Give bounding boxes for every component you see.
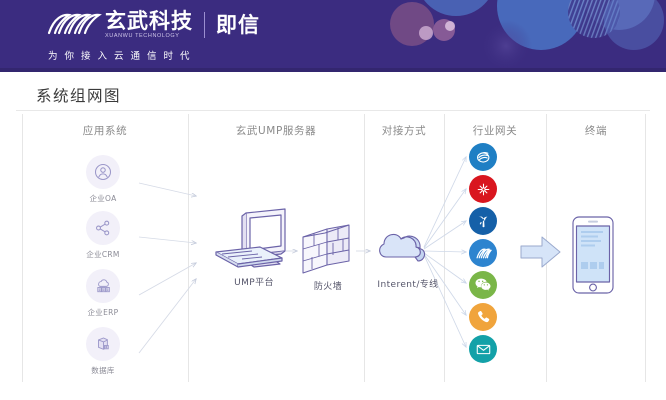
phone-handset-icon	[475, 309, 491, 325]
app-label-database: 数据库	[66, 365, 140, 376]
desktop-computer-icon	[208, 207, 300, 273]
banner-decoration	[366, 0, 666, 72]
app-node-database[interactable]: 数据库	[66, 327, 140, 376]
gateway-china-telecom[interactable]	[469, 207, 497, 235]
cloud-building-icon	[86, 269, 120, 303]
label-internet: Interent/专线	[372, 277, 444, 290]
gateway-voice[interactable]	[469, 303, 497, 331]
xuanwu-swoosh-icon	[46, 12, 100, 38]
banner-bottom-edge	[0, 68, 666, 72]
wechat-icon	[474, 277, 492, 293]
database-icon	[86, 327, 120, 361]
person-icon	[86, 155, 120, 189]
gateway-china-unicom[interactable]	[469, 175, 497, 203]
app-node-oa[interactable]: 企业OA	[66, 155, 140, 204]
app-node-erp[interactable]: 企业ERP	[66, 269, 140, 318]
screenshot-root: 玄武科技 XUANWU TECHNOLOGY 即信 为你接入云通信时代 系统组网…	[0, 0, 666, 400]
brand-tagline: 为你接入云通信时代	[48, 48, 197, 62]
page-title: 系统组网图	[36, 84, 121, 106]
app-to-ump-arrows	[139, 183, 196, 353]
terminal-smartphone[interactable]	[570, 215, 616, 295]
arrow-gateway-to-terminal	[520, 235, 562, 269]
logo-divider	[204, 12, 205, 38]
app-label-erp: 企业ERP	[66, 307, 140, 318]
envelope-icon	[475, 341, 492, 358]
smartphone-icon	[570, 215, 616, 295]
brand-name-en: XUANWU TECHNOLOGY	[105, 33, 193, 39]
gateway-wechat[interactable]	[469, 271, 497, 299]
header-banner: 玄武科技 XUANWU TECHNOLOGY 即信 为你接入云通信时代	[0, 0, 666, 72]
china-unicom-icon	[475, 181, 492, 198]
china-telecom-icon	[475, 213, 492, 230]
node-internet[interactable]: Interent/专线	[372, 223, 444, 290]
gateway-xuanwu[interactable]	[469, 239, 497, 267]
china-mobile-icon	[475, 149, 492, 166]
label-ump-platform: UMP平台	[208, 275, 300, 288]
label-firewall: 防火墙	[299, 279, 357, 292]
brick-wall-icon	[299, 221, 357, 277]
gateway-sms-mail[interactable]	[469, 335, 497, 363]
xuanwu-wave-icon	[475, 246, 492, 261]
app-label-crm: 企业CRM	[66, 249, 140, 260]
app-node-crm[interactable]: 企业CRM	[66, 211, 140, 260]
brand-logo[interactable]: 玄武科技 XUANWU TECHNOLOGY 即信 为你接入云通信时代	[46, 8, 260, 62]
share-nodes-icon	[86, 211, 120, 245]
node-ump-platform[interactable]: UMP平台	[208, 207, 300, 288]
network-diagram: 应用系统 玄武UMP服务器 对接方式 行业网关 终端	[0, 111, 666, 400]
cloud-icon	[372, 223, 444, 275]
app-label-oa: 企业OA	[66, 193, 140, 204]
product-name: 即信	[216, 15, 260, 36]
brand-name-cn: 玄武科技	[105, 11, 193, 32]
gateway-china-mobile[interactable]	[469, 143, 497, 171]
node-firewall[interactable]: 防火墙	[299, 221, 357, 292]
